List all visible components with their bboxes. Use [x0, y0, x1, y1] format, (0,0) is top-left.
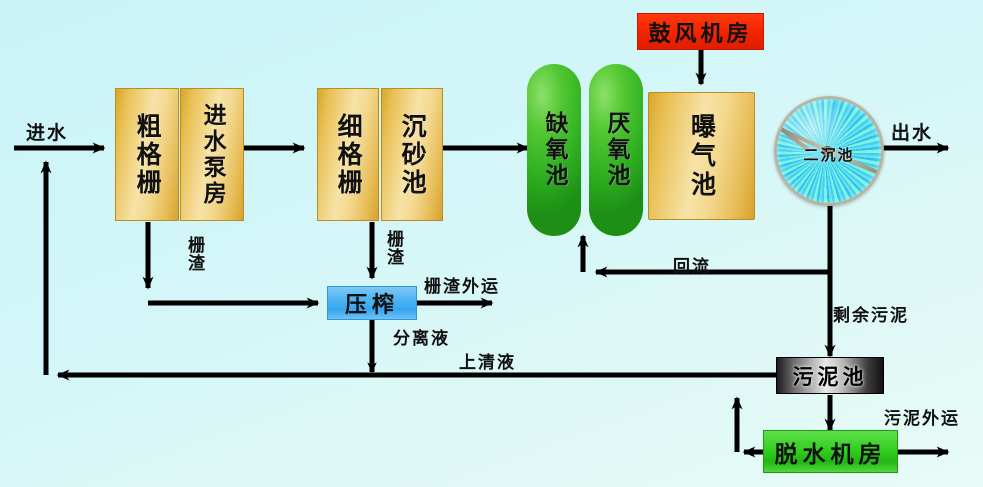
- label-separated-liquid: 分离液: [393, 324, 450, 349]
- unit-blower-room[interactable]: 鼓风机房: [637, 13, 764, 50]
- label-return-sludge: 回流: [673, 252, 711, 277]
- unit-secondary-clarifier-label: 二沉池: [777, 99, 881, 203]
- unit-inlet-pump-house[interactable]: 进水泵房: [180, 88, 244, 221]
- label-effluent: 出水: [891, 118, 933, 145]
- unit-grit-chamber[interactable]: 沉砂池: [381, 88, 443, 221]
- unit-secondary-clarifier[interactable]: 二沉池: [774, 96, 884, 206]
- unit-blower-room-label: 鼓风机房: [648, 16, 752, 48]
- label-sludge-out: 污泥外运: [884, 404, 960, 429]
- unit-anoxic-tank-label: 缺氧池: [537, 111, 571, 189]
- label-screenings-2: 栅渣: [381, 230, 406, 266]
- unit-coarse-screen[interactable]: 粗格栅: [115, 88, 179, 221]
- unit-sludge-tank[interactable]: 污泥池: [776, 357, 884, 394]
- unit-aeration-tank[interactable]: 曝气池: [648, 92, 755, 220]
- unit-fine-screen[interactable]: 细格栅: [317, 88, 379, 221]
- label-supernatant: 上清液: [459, 348, 516, 373]
- unit-dewatering-room[interactable]: 脱水机房: [763, 430, 898, 473]
- unit-dewatering-room-label: 脱水机房: [775, 435, 887, 469]
- label-screenings-out: 栅渣外运: [424, 272, 500, 297]
- unit-press-label: 压榨: [345, 287, 399, 319]
- flow-lines: [0, 0, 983, 487]
- label-excess-sludge: 剩余污泥: [833, 301, 909, 326]
- unit-press[interactable]: 压榨: [327, 286, 417, 320]
- process-flow-diagram: 粗格栅 进水泵房 细格栅 沉砂池 缺氧池 厌氧池 曝气池 鼓风机房 二沉池 压榨…: [0, 0, 983, 487]
- label-influent: 进水: [26, 118, 68, 145]
- unit-sludge-tank-label: 污泥池: [793, 361, 868, 391]
- unit-grit-chamber-label: 沉砂池: [399, 113, 425, 197]
- label-screenings-1: 栅渣: [182, 236, 207, 272]
- unit-anoxic-tank[interactable]: 缺氧池: [527, 64, 581, 236]
- unit-coarse-screen-label: 粗格栅: [134, 113, 160, 197]
- unit-inlet-pump-house-label: 进水泵房: [200, 103, 224, 207]
- unit-aeration-tank-label: 曝气池: [684, 113, 720, 200]
- unit-anaerobic-tank[interactable]: 厌氧池: [589, 64, 643, 236]
- unit-anaerobic-tank-label: 厌氧池: [599, 111, 633, 189]
- unit-fine-screen-label: 细格栅: [335, 113, 361, 197]
